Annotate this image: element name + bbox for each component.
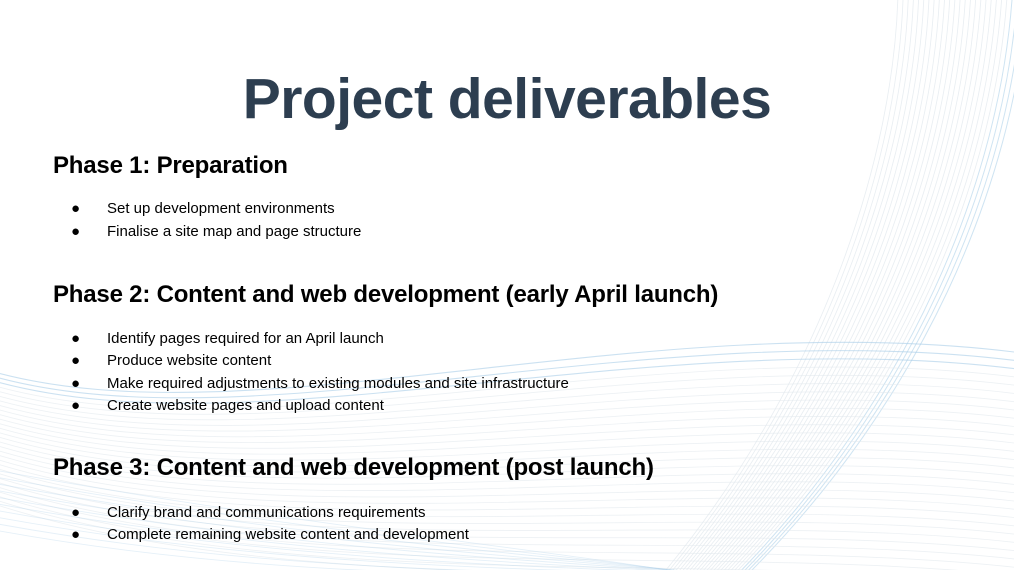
phase-section-3: Phase 3: Content and web development (po… (53, 454, 973, 547)
bullet-dot-icon: ● (71, 198, 80, 221)
bullet-dot-icon: ● (71, 395, 80, 418)
list-item-text: Finalise a site map and page structure (107, 223, 361, 240)
slide-content: Project deliverables Phase 1: Preparatio… (0, 0, 1014, 570)
phase-heading-1: Phase 1: Preparation (53, 152, 973, 180)
phase-section-2: Phase 2: Content and web development (ea… (53, 281, 973, 417)
bullet-dot-icon: ● (71, 221, 80, 244)
list-item-text: Set up development environments (107, 200, 335, 217)
list-item: ● Set up development environments (53, 198, 973, 221)
phase-heading-2: Phase 2: Content and web development (ea… (53, 281, 973, 309)
list-item-text: Identify pages required for an April lau… (107, 330, 384, 347)
list-item-text: Make required adjustments to existing mo… (107, 375, 569, 392)
list-item-text: Complete remaining website content and d… (107, 526, 469, 543)
list-item-text: Produce website content (107, 352, 271, 369)
bullet-list-2: ● Identify pages required for an April l… (53, 328, 973, 418)
page-title: Project deliverables (0, 70, 1014, 130)
list-item: ● Finalise a site map and page structure (53, 221, 973, 244)
list-item: ● Complete remaining website content and… (53, 524, 973, 547)
bullet-dot-icon: ● (71, 350, 80, 373)
slide-canvas: Project deliverables Phase 1: Preparatio… (0, 0, 1014, 570)
bullet-list-3: ● Clarify brand and communications requi… (53, 502, 973, 547)
bullet-dot-icon: ● (71, 502, 80, 525)
list-item: ● Identify pages required for an April l… (53, 328, 973, 351)
list-item: ● Create website pages and upload conten… (53, 395, 973, 418)
list-item-text: Clarify brand and communications require… (107, 504, 425, 521)
phase-heading-3: Phase 3: Content and web development (po… (53, 454, 973, 482)
list-item-text: Create website pages and upload content (107, 397, 384, 414)
list-item: ● Produce website content (53, 350, 973, 373)
bullet-dot-icon: ● (71, 373, 80, 396)
deliverables-list: Phase 1: Preparation ● Set up developmen… (53, 152, 973, 547)
bullet-dot-icon: ● (71, 328, 80, 351)
list-item: ● Clarify brand and communications requi… (53, 502, 973, 525)
bullet-dot-icon: ● (71, 524, 80, 547)
phase-section-1: Phase 1: Preparation ● Set up developmen… (53, 152, 973, 243)
bullet-list-1: ● Set up development environments ● Fina… (53, 198, 973, 243)
list-item: ● Make required adjustments to existing … (53, 373, 973, 396)
